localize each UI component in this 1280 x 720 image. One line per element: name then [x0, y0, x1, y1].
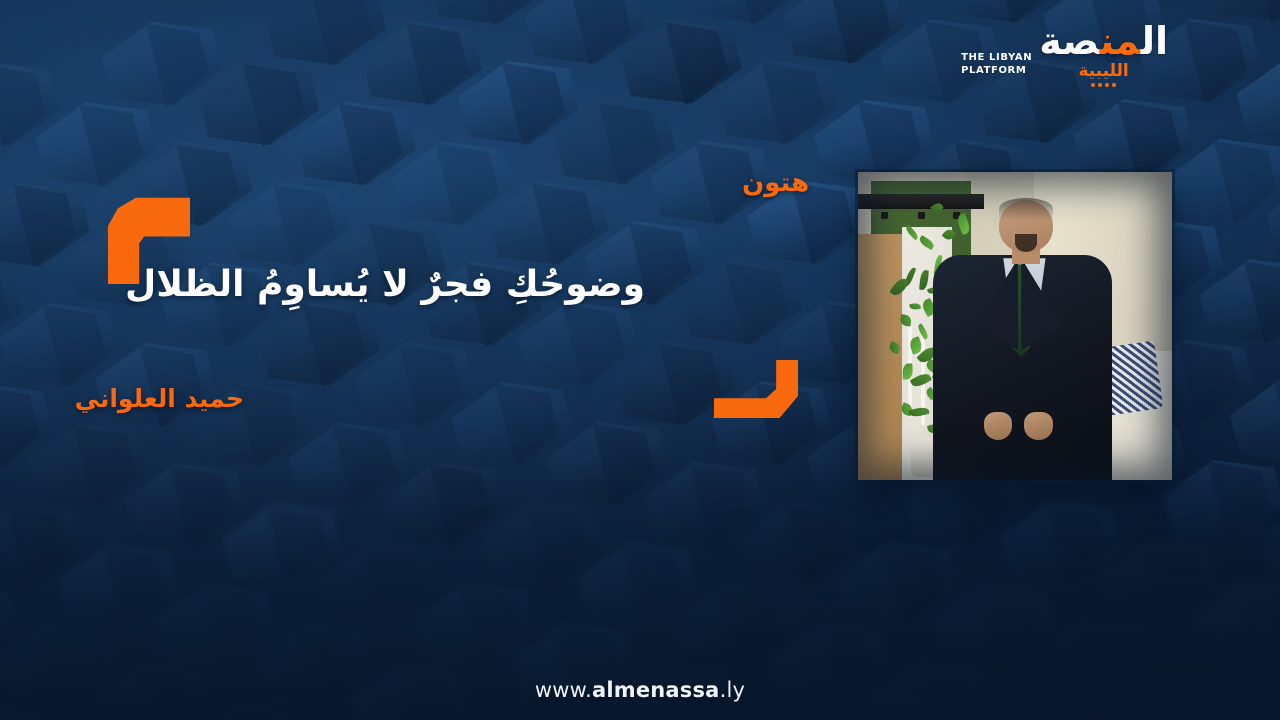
- brand-logo-word-highlight: من: [1100, 19, 1141, 63]
- portrait-scene: [858, 172, 1172, 480]
- brand-logo-en-line1: THE LIBYAN: [961, 52, 1032, 65]
- portrait-photo: [858, 172, 1172, 480]
- author-name: حميد العلواني: [44, 384, 244, 413]
- brand-logo-arabic: المنصة الليبية: [1039, 22, 1168, 87]
- photo-person-hand-left: [984, 412, 1012, 440]
- brand-logo-english: THE LIBYAN PLATFORM: [961, 52, 1032, 87]
- dot-icon: [1098, 83, 1102, 87]
- dot-icon: [1091, 83, 1095, 87]
- dot-icon: [1105, 83, 1109, 87]
- brand-logo-word-suffix: صة: [1039, 19, 1100, 63]
- quote-card: المنصة الليبية THE LIBYAN PLATFORM هتون …: [0, 0, 1280, 720]
- footer-url: www.almenassa.ly: [0, 678, 1280, 702]
- photo-person-beard: [1015, 234, 1037, 252]
- photo-person-hand-right: [1024, 412, 1052, 440]
- program-label: هتون: [742, 168, 809, 198]
- footer-url-suffix: .ly: [720, 678, 746, 702]
- brand-logo-word-prefix: ال: [1141, 19, 1168, 63]
- brand-logo-wordmark: المنصة: [1039, 22, 1168, 60]
- brand-logo: المنصة الليبية THE LIBYAN PLATFORM: [961, 22, 1168, 87]
- footer-url-prefix: www.: [535, 678, 592, 702]
- footer-url-name: almenassa: [592, 678, 720, 702]
- brand-logo-en-line2: PLATFORM: [961, 65, 1026, 78]
- brand-logo-subtitle: الليبية: [1078, 63, 1128, 80]
- quote-text: وضوحُكِ فجرٌ لا يُساوِمُ الظلال: [60, 258, 710, 312]
- dot-icon: [1112, 83, 1116, 87]
- close-quote-mark-icon: [714, 360, 798, 418]
- photo-person-hair: [999, 198, 1052, 220]
- brand-logo-dots: [1091, 83, 1116, 87]
- photo-ceiling-rail: [858, 194, 984, 209]
